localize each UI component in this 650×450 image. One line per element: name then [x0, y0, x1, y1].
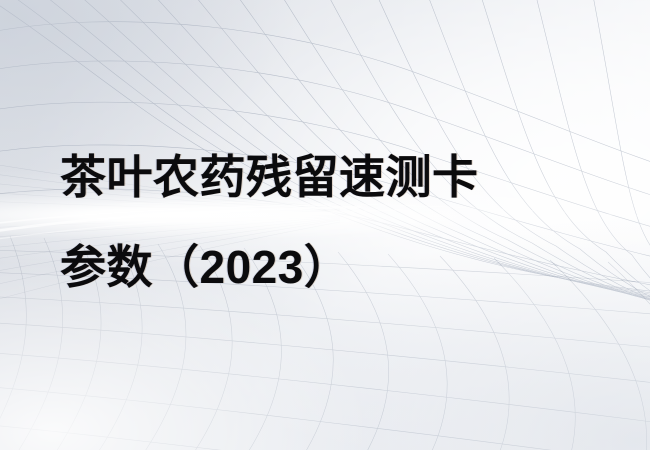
- title-banner: 茶叶农药残留速测卡 参数（2023）: [0, 0, 650, 450]
- title-line-1: 茶叶农药残留速测卡: [60, 132, 600, 222]
- title-line-2: 参数（2023）: [60, 222, 600, 312]
- page-title: 茶叶农药残留速测卡 参数（2023）: [60, 132, 600, 312]
